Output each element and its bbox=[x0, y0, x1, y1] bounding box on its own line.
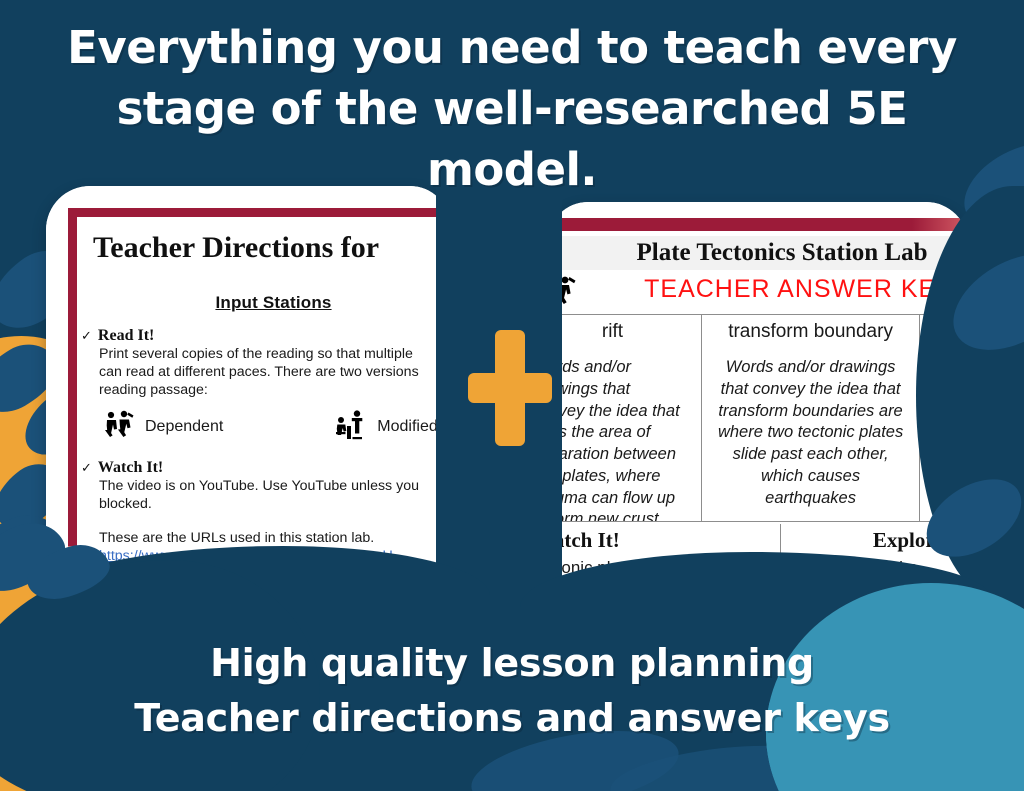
caption: High quality lesson planning Teacher dir… bbox=[0, 636, 1024, 746]
lower-explore-number: 1. bbox=[791, 558, 805, 577]
read-it-line-1: Print several copies of the reading so t… bbox=[77, 345, 450, 363]
answer-cell-3-line-2: drawi bbox=[928, 379, 968, 401]
plus-icon bbox=[468, 330, 552, 446]
answer-cell-rift-line-6: two plates, where bbox=[548, 466, 693, 488]
answer-cell-rift-line-5: separation between bbox=[548, 444, 693, 466]
left-document-page: Teacher Directions for Input Stations ✓R… bbox=[68, 208, 450, 586]
answer-cell-3-line-3: the id bbox=[928, 401, 968, 423]
right-doc-title: Plate Tectonics Station Lab bbox=[562, 236, 968, 270]
left-doc-title: Teacher Directions for bbox=[77, 217, 450, 265]
answer-cell-transform-line-1: Words and/or drawings bbox=[710, 357, 911, 379]
answer-cell-transform-line-4: where two tectonic plates bbox=[710, 422, 911, 444]
people-reading-pictogram-icon bbox=[103, 410, 137, 445]
answer-cell-rift-line-2: drawings that bbox=[548, 379, 693, 401]
lower-explore-line-1: 1. Students sho bbox=[791, 557, 969, 579]
teacher-student-pictogram-icon bbox=[335, 410, 369, 445]
lower-explore-heading: Explore bbox=[791, 528, 969, 553]
answer-cell-rift-line-7: magma can flow up bbox=[548, 488, 693, 510]
caption-line-2: Teacher directions and answer keys bbox=[0, 691, 1024, 746]
bullet-read-it: ✓Read It! bbox=[77, 327, 450, 345]
answer-cell-3-line-6: cool t bbox=[928, 466, 968, 488]
answer-cell-transform-line-7: earthquakes bbox=[710, 488, 911, 510]
check-mark-icon-2: ✓ bbox=[81, 461, 92, 476]
left-red-stripe-bottom bbox=[68, 546, 77, 586]
teacher-answer-key-banner: TEACHER ANSWER KEY bbox=[596, 272, 968, 306]
headline: Everything you need to teach every stage… bbox=[0, 18, 1024, 200]
answer-table-col-1: rift Words and/or drawings that convey t… bbox=[548, 315, 702, 521]
answer-cell-transform-line-5: slide past each other, bbox=[710, 444, 911, 466]
right-document-page: Plate Tectonics Station Lab TEACHER ANSW… bbox=[548, 218, 968, 586]
dependent-label: Dependent bbox=[145, 418, 223, 436]
lower-explore-line-2: that conve bbox=[791, 579, 969, 586]
bullet-watch-it: ✓Watch It! bbox=[77, 459, 450, 477]
bullet-explore-it-label: Explore It! bbox=[98, 579, 173, 586]
headline-line-2: stage of the well-researched 5E model. bbox=[26, 79, 998, 201]
answer-cell-3-line-4: is mo bbox=[928, 422, 968, 444]
answer-table-header-rift: rift bbox=[548, 321, 693, 343]
answer-table-col-2: transform boundary Words and/or drawings… bbox=[702, 315, 920, 521]
lower-cell-explore: Explore 1. Students sho that conve bbox=[781, 524, 969, 586]
watch-it-line-2: blocked. bbox=[77, 495, 450, 513]
teacher-directions-card[interactable]: Teacher Directions for Input Stations ✓R… bbox=[46, 186, 450, 586]
answer-cell-rift-line-1: Words and/or bbox=[548, 357, 693, 379]
answer-table-header-3 bbox=[928, 321, 968, 343]
answer-table-col-3: W drawi the id is mo can f cool t bbox=[920, 315, 968, 521]
lower-cell-watch-it: Watch It! tectonic plates move by the co… bbox=[548, 524, 781, 586]
caption-line-1: High quality lesson planning bbox=[0, 636, 1024, 691]
reading-version-icons-row: Dependent bbox=[77, 410, 450, 445]
left-card-sheet: Teacher Directions for Input Stations ✓R… bbox=[46, 186, 450, 586]
answer-lower-row: Watch It! tectonic plates move by the co… bbox=[548, 524, 968, 586]
read-it-line-2: can read at different paces. There are t… bbox=[77, 363, 450, 381]
headline-line-1: Everything you need to teach every bbox=[26, 18, 998, 79]
youtube-url-link[interactable]: https://www.youtube.com/watch?v=kwfNGatx… bbox=[77, 548, 393, 564]
read-it-line-3: reading passage: bbox=[77, 381, 450, 399]
answer-table-header-transform: transform boundary bbox=[710, 321, 911, 343]
runner-pictogram-icon bbox=[550, 274, 584, 308]
answer-cell-3-line-1: W bbox=[928, 357, 968, 379]
answer-cell-transform-line-3: transform boundaries are bbox=[710, 401, 911, 423]
right-card-sheet: Plate Tectonics Station Lab TEACHER ANSW… bbox=[548, 202, 968, 586]
slide-canvas: Everything you need to teach every stage… bbox=[0, 0, 1024, 791]
lower-explore-text-1: Students sho bbox=[819, 558, 918, 577]
bullet-explore-it: ✓Explore It! bbox=[77, 579, 450, 586]
check-mark-icon: ✓ bbox=[81, 329, 92, 344]
right-red-header-bar bbox=[562, 218, 968, 231]
check-mark-icon-3: ✓ bbox=[81, 581, 92, 586]
lower-watch-line-2: by the convection bbox=[548, 579, 770, 586]
bullet-read-it-label: Read It! bbox=[98, 327, 154, 344]
watch-it-line-1: The video is on YouTube. Use YouTube unl… bbox=[77, 477, 450, 495]
answer-key-card[interactable]: Plate Tectonics Station Lab TEACHER ANSW… bbox=[548, 202, 968, 586]
right-red-bar-fade bbox=[912, 218, 968, 231]
answer-table: rift Words and/or drawings that convey t… bbox=[548, 314, 968, 522]
answer-cell-3-line-5: can f bbox=[928, 444, 968, 466]
lower-watch-line-1: tectonic plates move bbox=[548, 557, 770, 579]
left-section-heading: Input Stations bbox=[77, 293, 450, 313]
bullet-watch-it-label: Watch It! bbox=[98, 459, 163, 476]
answer-cell-transform-line-2: that convey the idea that bbox=[710, 379, 911, 401]
modified-label: Modified bbox=[377, 418, 437, 436]
answer-cell-transform-line-6: which causes bbox=[710, 466, 911, 488]
answer-cell-rift-line-4: rift is the area of bbox=[548, 422, 693, 444]
answer-cell-rift-line-3: convey the idea that bbox=[548, 401, 693, 423]
answer-cell-rift-line-8: to form new crust bbox=[548, 509, 693, 521]
lower-watch-heading: Watch It! bbox=[548, 528, 770, 553]
plus-horizontal-bar bbox=[468, 373, 552, 403]
urls-intro: These are the URLs used in this station … bbox=[77, 529, 450, 547]
